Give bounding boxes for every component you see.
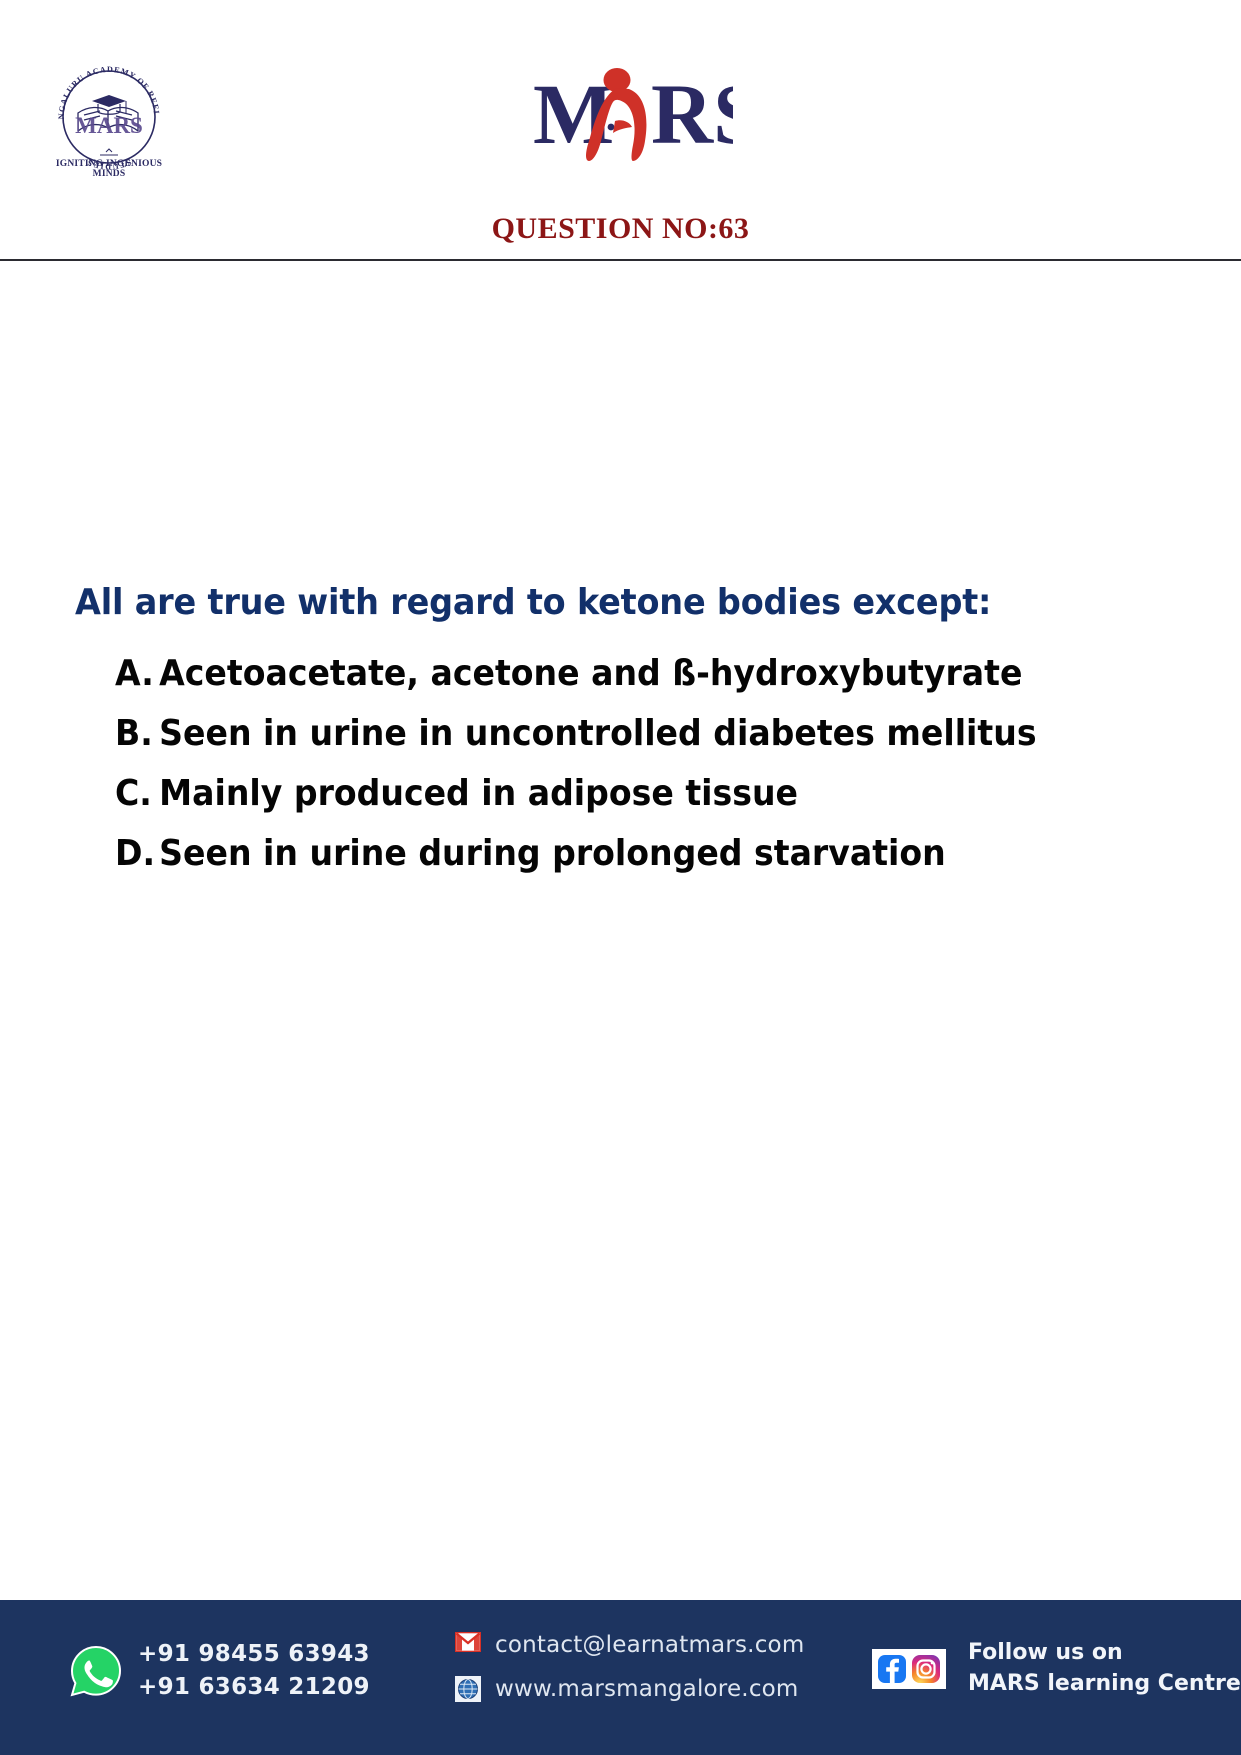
option-b[interactable]: B. Seen in urine in uncontrolled diabete… [115, 716, 1081, 752]
question-stem: All are true with regard to ketone bodie… [75, 582, 991, 623]
whatsapp-icon [70, 1645, 122, 1697]
phone-number-2: +91 63634 21209 [138, 1674, 370, 1700]
option-b-text: Seen in urine in uncontrolled diabetes m… [159, 716, 1036, 752]
options-list: A. Acetoacetate, acetone and ß-hydroxybu… [115, 656, 1165, 896]
footer-social-block: Follow us on MARS learning Centre [872, 1638, 1241, 1700]
footer-email-row[interactable]: contact@learnatmars.com [455, 1632, 804, 1658]
gmail-icon [455, 1632, 481, 1658]
question-number-title: QUESTION NO:63 [0, 212, 1241, 246]
instagram-icon [911, 1654, 941, 1684]
option-d-letter: D. [115, 836, 159, 872]
option-c-letter: C. [115, 776, 159, 812]
social-handle-line: MARS learning Centre [968, 1671, 1241, 1696]
page-header: MANGALURU ACADEMY OF REFINED STUDIES MAR… [0, 0, 1241, 261]
social-icons-tile[interactable] [872, 1649, 946, 1689]
option-d[interactable]: D. Seen in urine during prolonged starva… [115, 836, 1081, 872]
footer-phone-block: +91 98455 63943 +91 63634 21209 [70, 1638, 370, 1705]
mars-brand-logo: M RS [533, 55, 733, 165]
question-content: All are true with regard to ketone bodie… [0, 261, 1241, 1600]
svg-text:RS: RS [651, 66, 733, 162]
footer-email-text: contact@learnatmars.com [495, 1632, 804, 1658]
option-a[interactable]: A. Acetoacetate, acetone and ß-hydroxybu… [115, 656, 1081, 692]
option-c-text: Mainly produced in adipose tissue [159, 776, 798, 812]
page-footer: +91 98455 63943 +91 63634 21209 contact@… [0, 1600, 1241, 1755]
footer-phone-numbers: +91 98455 63943 +91 63634 21209 [138, 1638, 370, 1705]
option-a-text: Acetoacetate, acetone and ß-hydroxybutyr… [159, 656, 1022, 692]
option-c[interactable]: C. Mainly produced in adipose tissue [115, 776, 1081, 812]
footer-website-text: www.marsmangalore.com [495, 1676, 799, 1702]
follow-us-line: Follow us on [968, 1640, 1123, 1665]
option-a-letter: A. [115, 656, 159, 692]
footer-website-row[interactable]: www.marsmangalore.com [455, 1676, 804, 1702]
academy-seal-logo: MANGALURU ACADEMY OF REFINED STUDIES MAR… [48, 55, 170, 173]
globe-icon [455, 1676, 481, 1702]
facebook-icon [877, 1654, 907, 1684]
option-d-text: Seen in urine during prolonged starvatio… [159, 836, 946, 872]
footer-social-text: Follow us on MARS learning Centre [968, 1638, 1241, 1700]
academy-seal-tagline: IGNITING INGENIOUS MINDS [46, 159, 172, 179]
footer-contact-block: contact@learnatmars.com www.marsmangalor… [455, 1632, 804, 1720]
option-b-letter: B. [115, 716, 159, 752]
phone-number-1: +91 98455 63943 [138, 1641, 370, 1667]
svg-text:MARS: MARS [75, 113, 143, 138]
